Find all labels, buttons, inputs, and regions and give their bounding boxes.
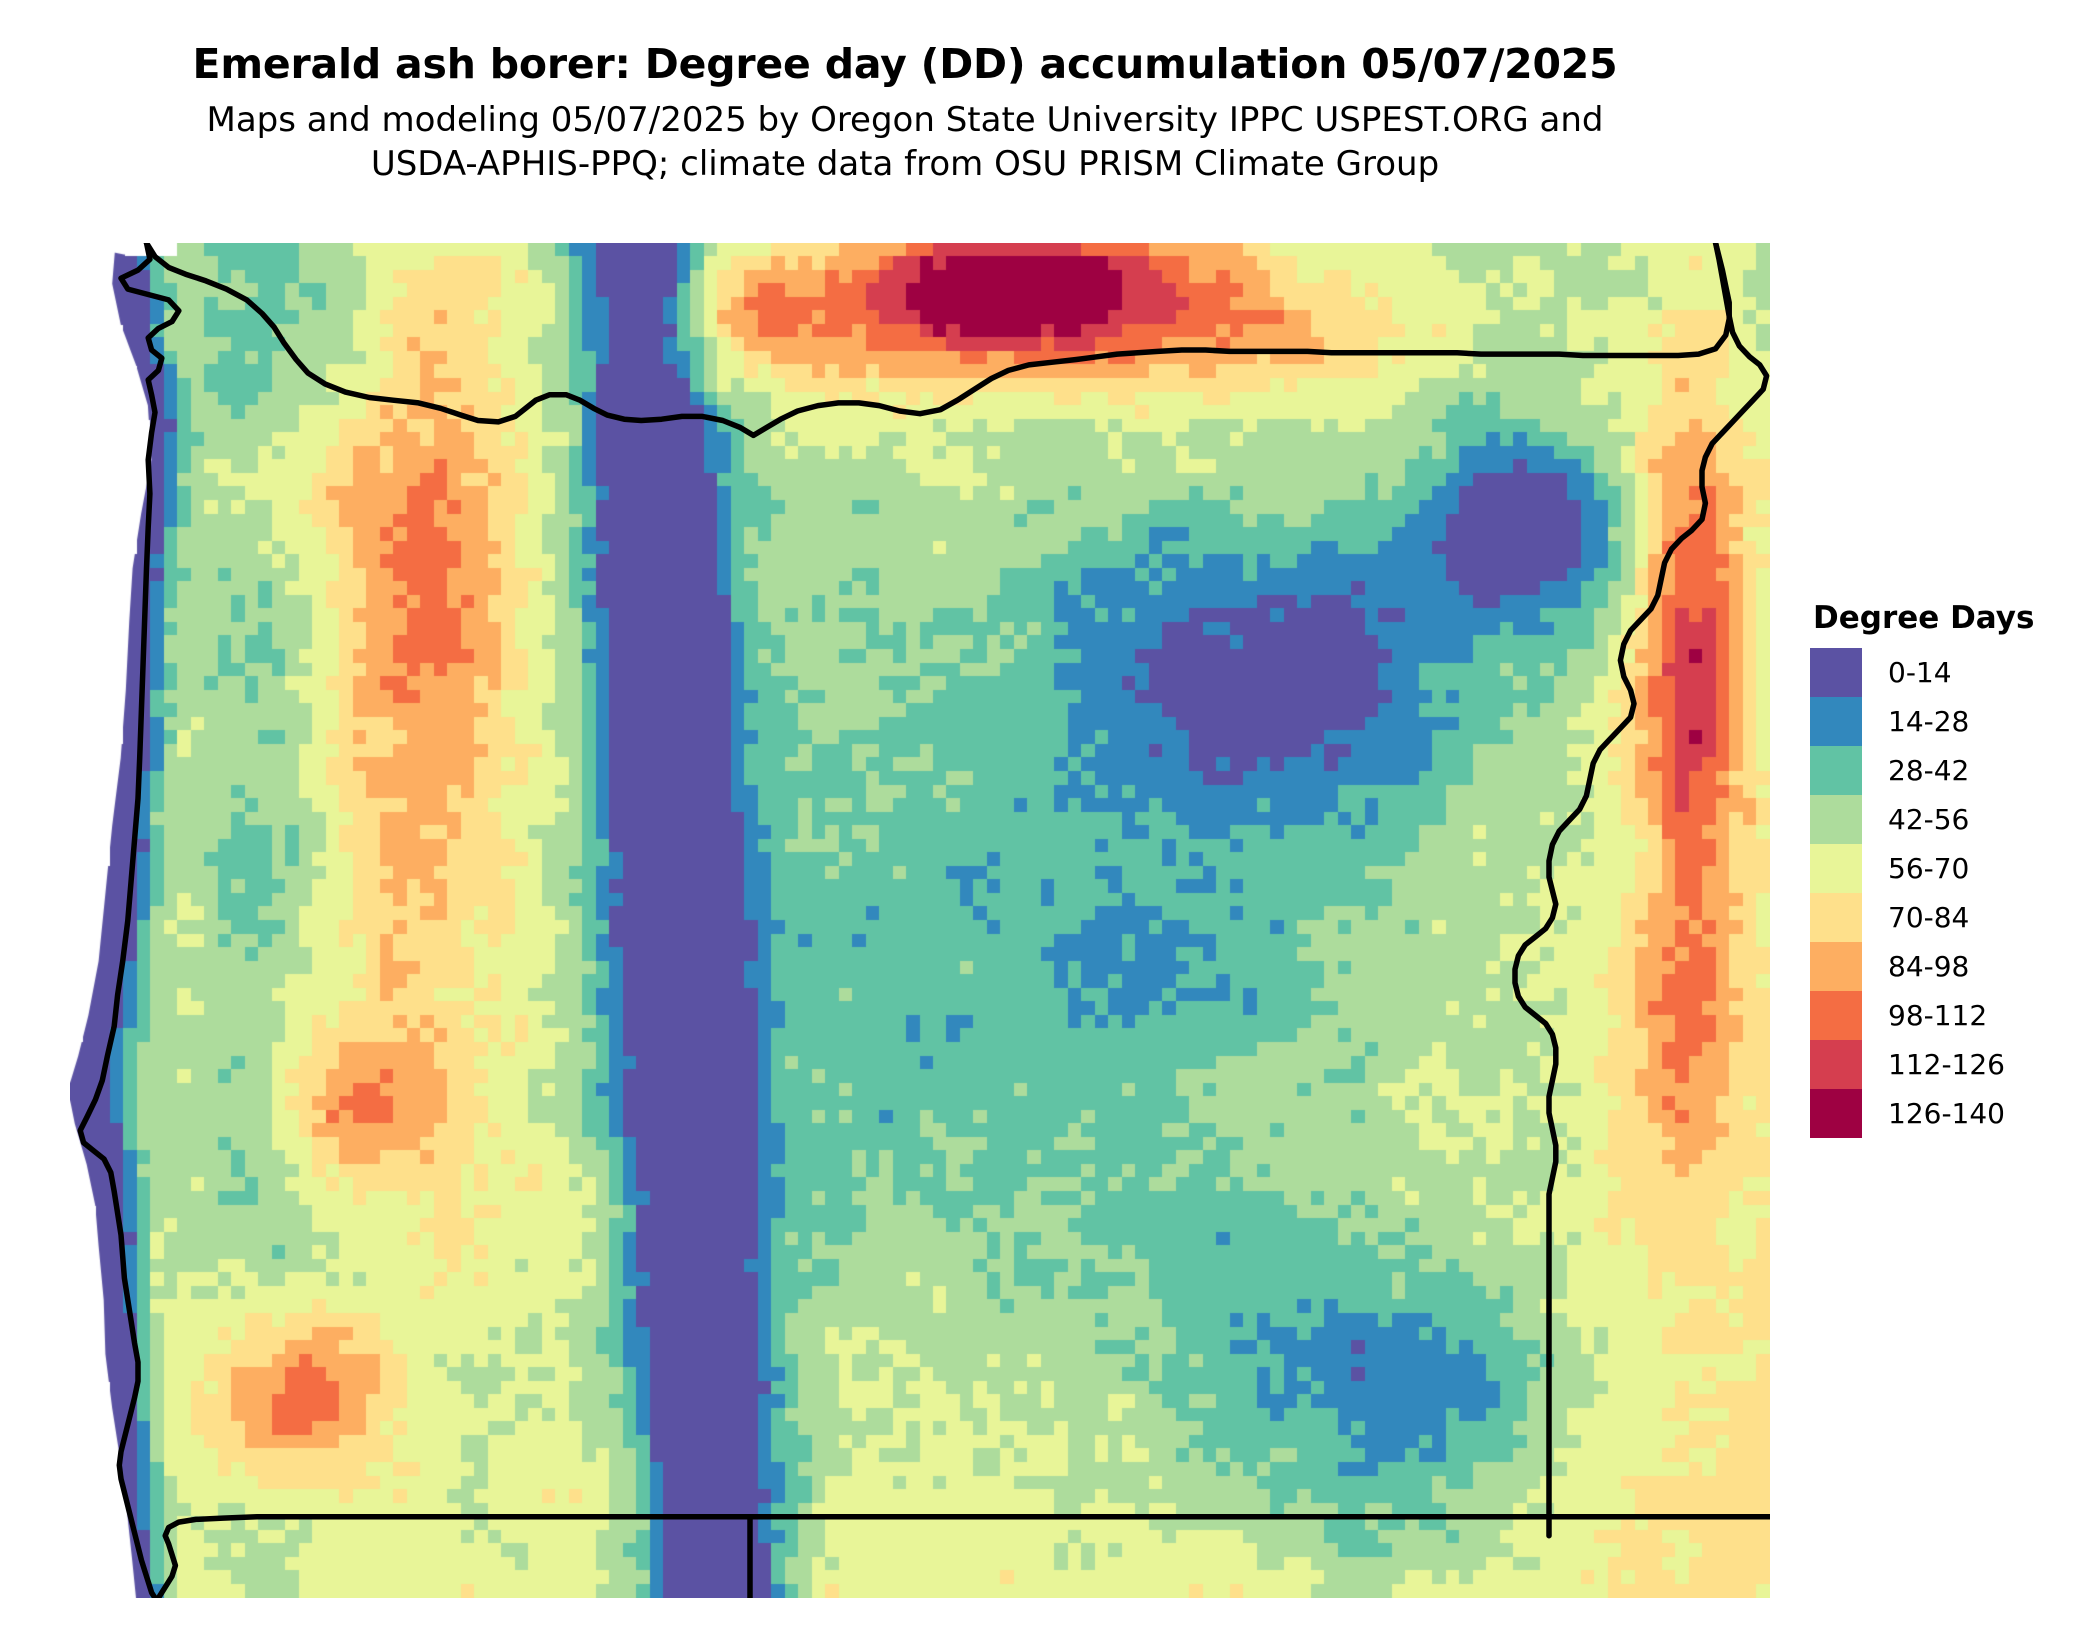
legend-row: 42-56 [1810,795,2090,844]
snake-river-border [1515,243,1767,1536]
legend-label: 126-140 [1888,1097,2005,1130]
legend-label: 28-42 [1888,754,1969,787]
degree-day-map-page: Emerald ash borer: Degree day (DD) accum… [0,0,2100,1645]
legend-label: 14-28 [1888,705,1969,738]
legend-swatch [1810,893,1862,942]
legend-swatch [1810,991,1862,1040]
legend-row: 112-126 [1810,1040,2090,1089]
page-title: Emerald ash borer: Degree day (DD) accum… [0,40,1810,88]
legend-label: 56-70 [1888,852,1969,885]
legend-swatch [1810,795,1862,844]
legend-label: 42-56 [1888,803,1969,836]
subtitle-line-1: Maps and modeling 05/07/2025 by Oregon S… [0,98,1810,142]
columbia-river-border [147,243,1730,435]
pacific-coastline [80,243,179,1598]
legend-label: 98-112 [1888,999,1987,1032]
legend-label: 0-14 [1888,656,1952,689]
legend-row: 84-98 [1810,942,2090,991]
legend-swatch [1810,697,1862,746]
legend-title: Degree Days [1813,600,2090,636]
legend-swatch [1810,1089,1862,1138]
southern-state-border [158,1517,750,1598]
legend-row: 98-112 [1810,991,2090,1040]
legend-row: 14-28 [1810,697,2090,746]
legend-row: 28-42 [1810,746,2090,795]
legend: Degree Days 0-1414-2828-4242-5656-7070-8… [1810,600,2090,1138]
subtitle-line-2: USDA-APHIS-PPQ; climate data from OSU PR… [0,142,1810,186]
legend-swatch [1810,746,1862,795]
legend-swatch [1810,942,1862,991]
legend-row: 0-14 [1810,648,2090,697]
legend-swatch [1810,1040,1862,1089]
legend-label: 84-98 [1888,950,1969,983]
legend-row: 56-70 [1810,844,2090,893]
state-boundary-overlay [70,243,1770,1598]
legend-swatch [1810,844,1862,893]
legend-row: 70-84 [1810,893,2090,942]
legend-label: 70-84 [1888,901,1969,934]
legend-rows: 0-1414-2828-4242-5656-7070-8484-9898-112… [1810,648,2090,1138]
legend-row: 126-140 [1810,1089,2090,1138]
legend-label: 112-126 [1888,1048,2005,1081]
page-subtitle: Maps and modeling 05/07/2025 by Oregon S… [0,98,1810,186]
map-panel [70,243,1770,1598]
legend-swatch [1810,648,1862,697]
